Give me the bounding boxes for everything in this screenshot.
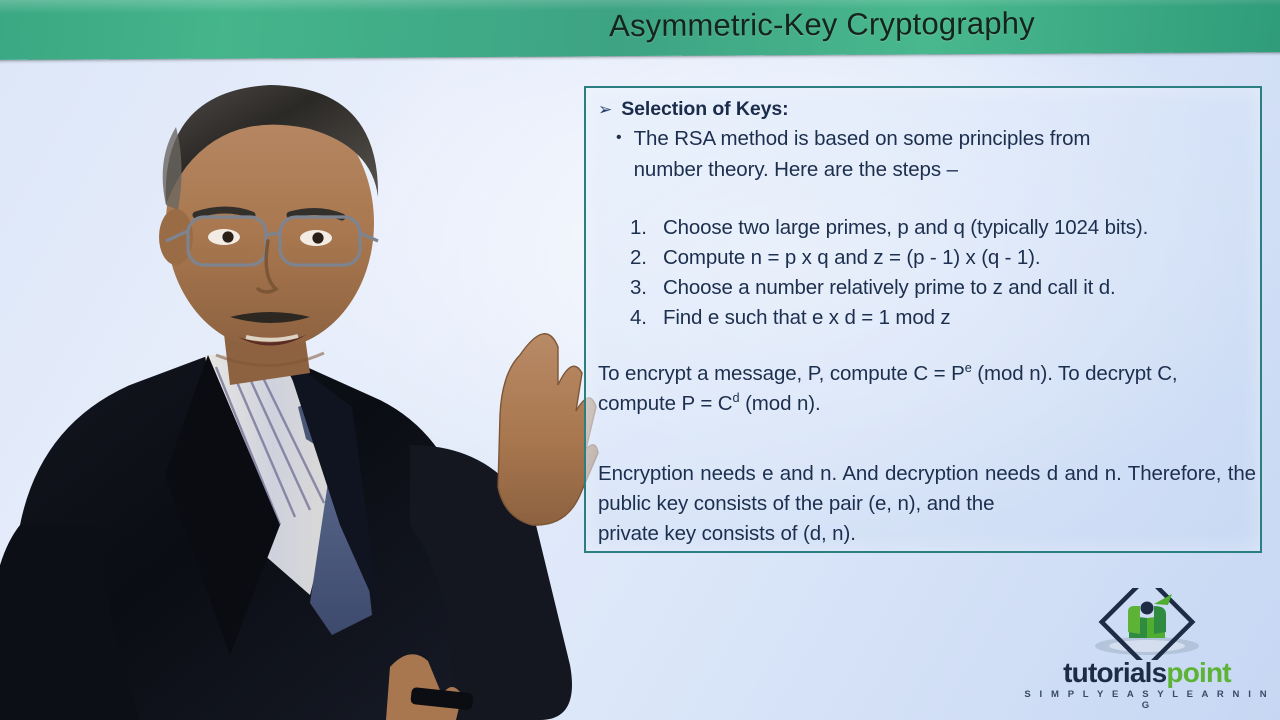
decrypt-line: compute P = Cd (mod n). [598,389,1256,419]
step-number: 4. [630,303,649,333]
arrow-bullet-icon: ➢ [598,101,612,118]
keys-line-1: Encryption needs e and n. And decryption… [598,462,1122,485]
logo-word-point: point [1166,657,1230,688]
steps-list: 1. Choose two large primes, p and q (typ… [630,213,1246,333]
tutorialspoint-logo: tutorialspoint S I M P L Y E A S Y L E A… [1022,588,1272,708]
logo-diamond-icon [1022,588,1272,658]
slide-header-band: Asymmetric-Key Cryptography [0,0,1280,60]
step-text: Choose a number relatively prime to z an… [663,273,1116,303]
step-text: Find e such that e x d = 1 mod z [663,303,951,333]
keys-line-3: private key consists of (d, n). [598,519,1256,549]
logo-wordmark: tutorialspoint [1022,658,1272,688]
step-number: 2. [630,243,649,273]
step-text: Compute n = p x q and z = (p - 1) x (q -… [663,243,1040,273]
encrypt-text-part-1: To encrypt a message, P, compute C = P [598,362,965,385]
slide-content-box: ➢ Selection of Keys: • The RSA method is… [584,86,1262,553]
step-number: 1. [630,213,649,243]
decrypt-text-part-2: (mod n). [739,392,820,415]
section-heading-label: Selection of Keys: [621,98,788,121]
encryption-formula-paragraph: To encrypt a message, P, compute C = Pe … [598,359,1256,419]
decrypt-text-part-1: compute P = C [598,392,733,415]
intro-paragraph: The RSA method is based on some principl… [634,123,1228,185]
dot-bullet-icon: • [616,123,622,185]
intro-line-2: number theory. Here are the steps – [634,154,1228,185]
step-number: 3. [630,273,649,303]
intro-bullet-item: • The RSA method is based on some princi… [616,123,1246,185]
list-item: 4. Find e such that e x d = 1 mod z [630,303,1246,333]
encrypt-text-part-2: (mod n). To decrypt C, [972,362,1178,385]
list-item: 1. Choose two large primes, p and q (typ… [630,213,1246,243]
list-item: 3. Choose a number relatively prime to z… [630,273,1246,303]
list-item: 2. Compute n = p x q and z = (p - 1) x (… [630,243,1246,273]
lecture-video-frame: Asymmetric-Key Cryptography ➢ Selection … [0,0,1280,720]
logo-tagline: S I M P L Y E A S Y L E A R N I N G [1022,689,1272,711]
section-heading: ➢ Selection of Keys: [598,98,1246,121]
key-pair-paragraph: Encryption needs e and n. And decryption… [598,459,1256,549]
exponent-e: e [965,360,972,375]
step-text: Choose two large primes, p and q (typica… [663,213,1148,243]
logo-word-tutorials: tutorials [1063,657,1166,688]
page-title: Asymmetric-Key Cryptography [0,0,1280,60]
intro-line-1: The RSA method is based on some principl… [634,127,1091,150]
